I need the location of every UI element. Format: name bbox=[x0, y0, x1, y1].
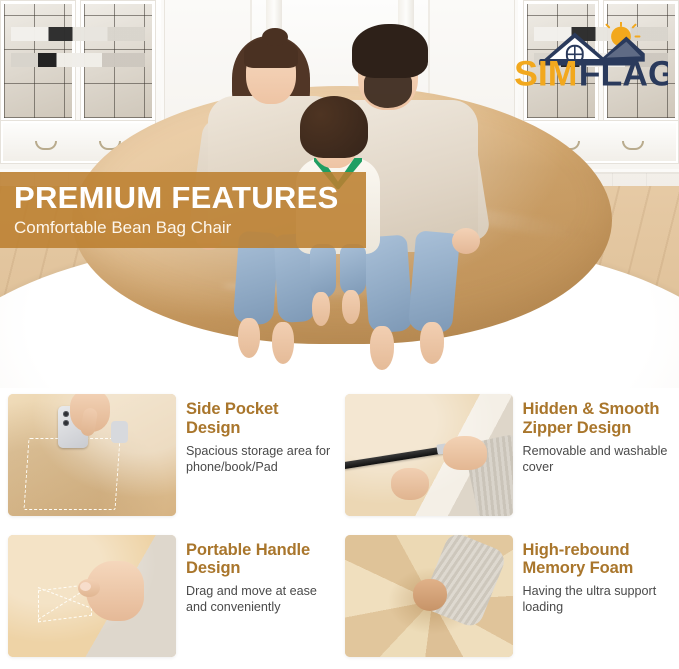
feature-card-memory-foam: High-rebound Memory Foam Having the ultr… bbox=[345, 535, 674, 662]
portable-handle-photo bbox=[8, 535, 176, 657]
product-feature-page: SIM FLAG PREMIUM FEATURES Comfortable Be… bbox=[0, 0, 679, 669]
feature-title: Side Pocket Design bbox=[186, 400, 337, 438]
shelf-books bbox=[11, 53, 145, 67]
feature-title: Hidden & Smooth Zipper Design bbox=[523, 400, 674, 438]
feature-text: Side Pocket Design Spacious storage area… bbox=[186, 394, 337, 475]
fingernail bbox=[80, 582, 91, 591]
hidden-zipper-photo bbox=[345, 394, 513, 516]
hand bbox=[391, 468, 429, 500]
feature-description: Spacious storage area for phone/book/Pad bbox=[186, 443, 337, 476]
glass-door bbox=[81, 1, 155, 121]
father-hair bbox=[352, 24, 428, 78]
camera-lens bbox=[63, 411, 69, 417]
mother-foot bbox=[238, 318, 260, 358]
feature-title: High-rebound Memory Foam bbox=[523, 541, 674, 579]
premium-features-banner: PREMIUM FEATURES Comfortable Bean Bag Ch… bbox=[0, 172, 366, 248]
child-foot bbox=[342, 290, 360, 324]
mother-foot bbox=[272, 322, 294, 364]
shelf-books bbox=[11, 27, 145, 41]
camera-lens bbox=[63, 420, 69, 426]
father-hand bbox=[452, 228, 480, 254]
hero-section: SIM FLAG PREMIUM FEATURES Comfortable Be… bbox=[0, 0, 679, 388]
feature-description: Removable and washable cover bbox=[523, 443, 674, 476]
feature-text: High-rebound Memory Foam Having the ultr… bbox=[523, 535, 674, 616]
cabinet-doors bbox=[1, 1, 155, 121]
feature-text: Hidden & Smooth Zipper Design Removable … bbox=[523, 394, 674, 475]
feature-description: Drag and move at ease and conveniently bbox=[186, 583, 337, 616]
camera-module bbox=[111, 421, 128, 443]
drawer-handle-icon bbox=[622, 141, 644, 150]
child-foot bbox=[312, 292, 330, 326]
feature-title: Portable Handle Design bbox=[186, 541, 337, 579]
logo-text-sim: SIM bbox=[514, 53, 577, 88]
feature-card-side-pocket: Side Pocket Design Spacious storage area… bbox=[8, 394, 337, 521]
father-foot bbox=[370, 326, 394, 370]
pocket-stitch-outline bbox=[23, 438, 120, 510]
child-hair bbox=[300, 96, 368, 158]
memory-foam-photo bbox=[345, 535, 513, 657]
fist-pressing bbox=[413, 579, 447, 611]
side-pocket-photo bbox=[8, 394, 176, 516]
child-leg bbox=[310, 244, 336, 298]
father-foot bbox=[420, 322, 444, 364]
features-grid: Side Pocket Design Spacious storage area… bbox=[0, 390, 679, 669]
feature-card-portable-handle: Portable Handle Design Drag and move at … bbox=[8, 535, 337, 662]
feature-card-hidden-zipper: Hidden & Smooth Zipper Design Removable … bbox=[345, 394, 674, 521]
banner-title: PREMIUM FEATURES bbox=[14, 180, 339, 216]
feature-text: Portable Handle Design Drag and move at … bbox=[186, 535, 337, 616]
mother-hair-bun bbox=[262, 28, 288, 46]
logo-text-flag: FLAG bbox=[579, 53, 668, 88]
drawer-handle-icon bbox=[35, 141, 57, 150]
feature-description: Having the ultra support loading bbox=[523, 583, 674, 616]
child-leg bbox=[340, 244, 366, 296]
banner-subtitle: Comfortable Bean Bag Chair bbox=[14, 218, 231, 238]
hand bbox=[443, 436, 487, 470]
brand-logo: SIM FLAG bbox=[508, 22, 668, 88]
